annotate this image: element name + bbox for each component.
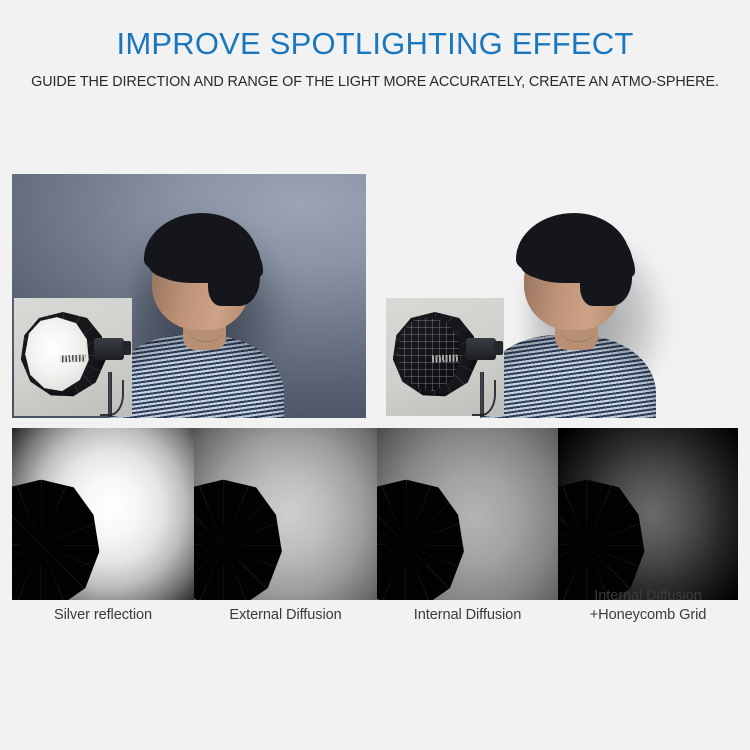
light-pattern-external-diffusion [194,428,377,600]
light-pattern-internal-diffusion-honeycomb [558,428,738,600]
monolight-head [94,338,124,360]
caption-line-1: Internal Diffusion [594,588,701,604]
caption-line-2: +Honeycomb Grid [558,606,738,625]
hair-back [208,242,260,305]
caption-line-1: Internal Diffusion [414,607,521,623]
caption-silver-reflection: Silver reflection [12,606,194,626]
photo-with-grid [384,174,738,418]
light-pattern-silver-reflection [12,428,194,600]
portrait-subject [118,174,281,418]
page-title: IMPROVE SPOTLIGHTING EFFECT [0,26,750,62]
monolight-head [466,338,496,360]
caption-internal-diffusion: Internal Diffusion [377,606,558,626]
softbox-brand-label [431,355,457,363]
caption-external-diffusion: External Diffusion [194,606,377,626]
caption-line-1: Silver reflection [54,607,152,623]
page-subtitle: GUIDE THE DIRECTION AND RANGE OF THE LIG… [25,71,725,93]
portrait-subject [490,174,653,418]
power-cord [100,380,124,416]
light-pattern-strip [12,428,738,600]
hair-back [580,242,632,305]
product-feature-page: IMPROVE SPOTLIGHTING EFFECT GUIDE THE DI… [0,0,750,750]
light-pattern-internal-diffusion [377,428,558,600]
light-pattern-captions: Silver reflection External Diffusion Int… [12,606,738,626]
inset-softbox-grid-photo [386,298,504,416]
photo-without-grid [12,174,366,418]
softbox-brand-label [59,355,85,363]
header: IMPROVE SPOTLIGHTING EFFECT GUIDE THE DI… [0,0,750,93]
caption-internal-diffusion-honeycomb: Internal Diffusion +Honeycomb Grid [558,587,738,626]
caption-line-1: External Diffusion [229,607,341,623]
inset-softbox-diffuser-photo [14,298,132,416]
comparison-photo-row [12,174,738,418]
power-cord [472,380,496,416]
